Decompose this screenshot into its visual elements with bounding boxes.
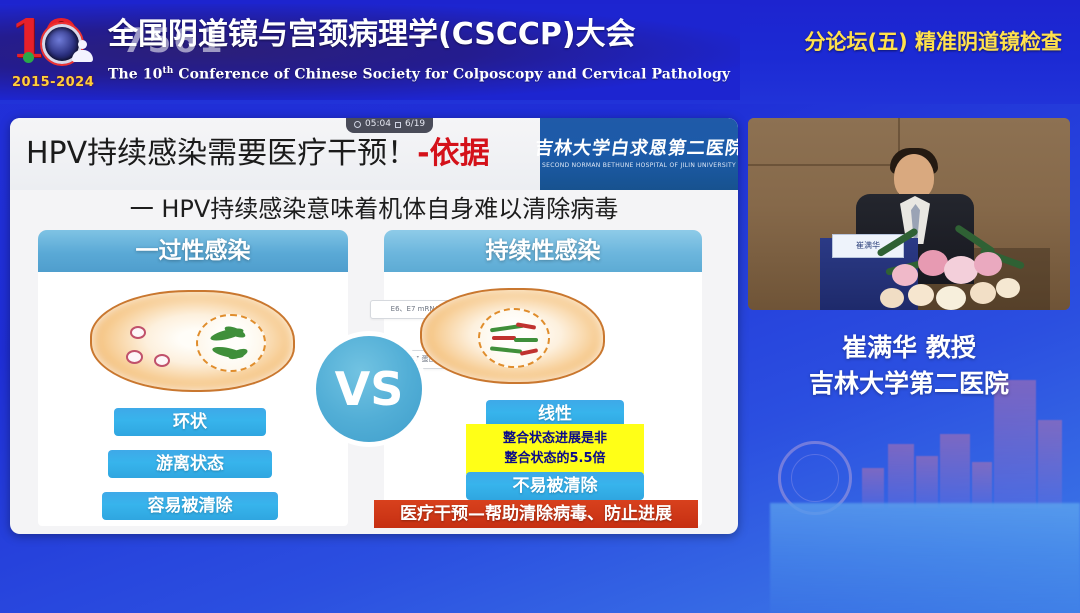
highlight-statistic: 整合状态进展是非 整合状态的5.5倍	[466, 424, 644, 474]
stream-timestamp-badge: 05:04 6/19	[346, 118, 433, 133]
cell-diagram-integrated	[420, 288, 605, 384]
column-header-persistent: 持续性感染	[384, 230, 702, 272]
ferris-wheel-icon	[778, 441, 852, 515]
flower-arrangement	[874, 220, 1054, 310]
highlight-line-2: 整合状态的5.5倍	[504, 449, 605, 469]
hospital-logo: 吉林大学白求恩第二医院 SECOND NORMAN BETHUNE HOSPIT…	[540, 118, 738, 190]
pill-right-2: 不易被清除	[466, 472, 644, 500]
conclusion-banner: 医疗干预—帮助清除病毒、防止进展	[374, 500, 698, 528]
speaker-name: 崔满华 教授	[748, 332, 1070, 364]
anniversary-years: 2015-2024	[12, 76, 94, 89]
slide-subtitle: 一 HPV持续感染意味着机体自身难以清除病毒	[10, 194, 738, 224]
pill-left-1: 环状	[114, 408, 266, 436]
timestamp-date: 6/19	[405, 120, 425, 129]
calendar-icon	[395, 122, 401, 128]
conference-title-en: The 10th Conference of Chinese Society f…	[108, 62, 730, 84]
pill-left-2: 游离状态	[108, 450, 272, 478]
highlight-line-1: 整合状态进展是非	[503, 429, 607, 449]
hospital-name-en: SECOND NORMAN BETHUNE HOSPITAL OF JILIN …	[542, 162, 736, 170]
cell-diagram-episomal	[90, 290, 295, 392]
pill-left-3: 容易被清除	[102, 492, 278, 520]
vs-badge: VS	[316, 336, 422, 442]
screen-root: 10 2015-2024 全国阴道镜与宫颈病理学(CSCCP)大会 7561 T…	[0, 0, 1080, 613]
hospital-name-cn: 吉林大学白求恩第二医院	[533, 138, 738, 160]
comparison-area: 一过性感染 持续性感染 环状 游离状态 容易被清除	[10, 230, 738, 534]
anniversary-logo-icon: 10 2015-2024	[8, 12, 103, 98]
panel-transient: 环状 游离状态 容易被清除	[38, 272, 348, 526]
slide-title: HPV持续感染需要医疗干预！-依据	[26, 135, 490, 173]
conference-banner: 10 2015-2024 全国阴道镜与宫颈病理学(CSCCP)大会 7561 T…	[0, 0, 1080, 104]
column-header-transient: 一过性感染	[38, 230, 348, 272]
slide-title-bar: HPV持续感染需要医疗干预！-依据 05:04 6/19 吉林大学白求恩第二医院…	[10, 118, 738, 190]
presentation-slide[interactable]: HPV持续感染需要医疗干预！-依据 05:04 6/19 吉林大学白求恩第二医院…	[10, 118, 738, 534]
speaker-organization: 吉林大学第二医院	[748, 368, 1070, 400]
conference-title-cn: 全国阴道镜与宫颈病理学(CSCCP)大会	[108, 18, 636, 52]
slide-title-accent: -依据	[417, 136, 489, 171]
clock-icon	[354, 121, 361, 128]
panel-persistent: E6、E7 mRNA E6、E7 蛋白 线性 整合状态进展是非 整合状态的	[384, 272, 702, 526]
forum-session-label: 分论坛(五) 精准阴道镜检查	[804, 30, 1062, 54]
timestamp-time: 05:04	[365, 120, 391, 129]
speaker-video-feed[interactable]: 崔满华	[748, 118, 1070, 310]
